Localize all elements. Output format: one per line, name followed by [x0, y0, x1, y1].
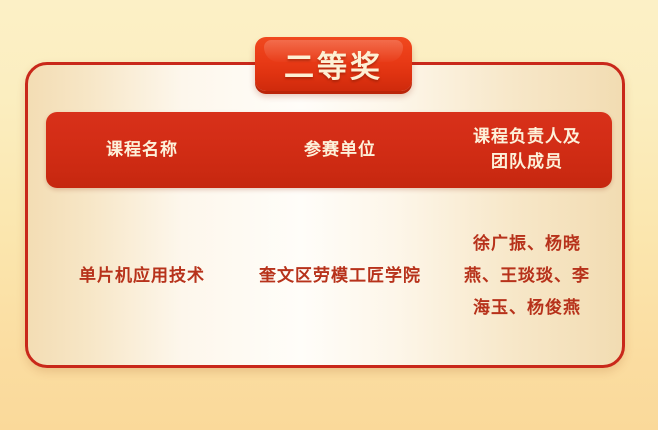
cell-course-name: 单片机应用技术: [46, 192, 238, 360]
table-row: 单片机应用技术 奎文区劳模工匠学院 徐广振、杨晓燕、王琰琰、李海玉、杨俊燕: [46, 192, 612, 360]
table-header-row: 课程名称 参赛单位 课程负责人及 团队成员: [46, 112, 612, 188]
award-poster: 二等奖 课程名称 参赛单位 课程负责人及 团队成员 单片机应用技术 奎文区劳模工…: [0, 0, 658, 430]
table-header-unit: 参赛单位: [238, 112, 442, 188]
award-banner-label: 二等奖: [255, 37, 412, 91]
cell-unit: 奎文区劳模工匠学院: [238, 192, 442, 360]
table-header-course-name: 课程名称: [46, 112, 238, 188]
table-header-members-line2: 团队成员: [491, 150, 563, 175]
award-banner: 二等奖: [255, 37, 412, 91]
table-header-members: 课程负责人及 团队成员: [442, 112, 612, 188]
cell-members: 徐广振、杨晓燕、王琰琰、李海玉、杨俊燕: [442, 192, 612, 360]
table-header-members-line1: 课程负责人及: [473, 125, 581, 150]
